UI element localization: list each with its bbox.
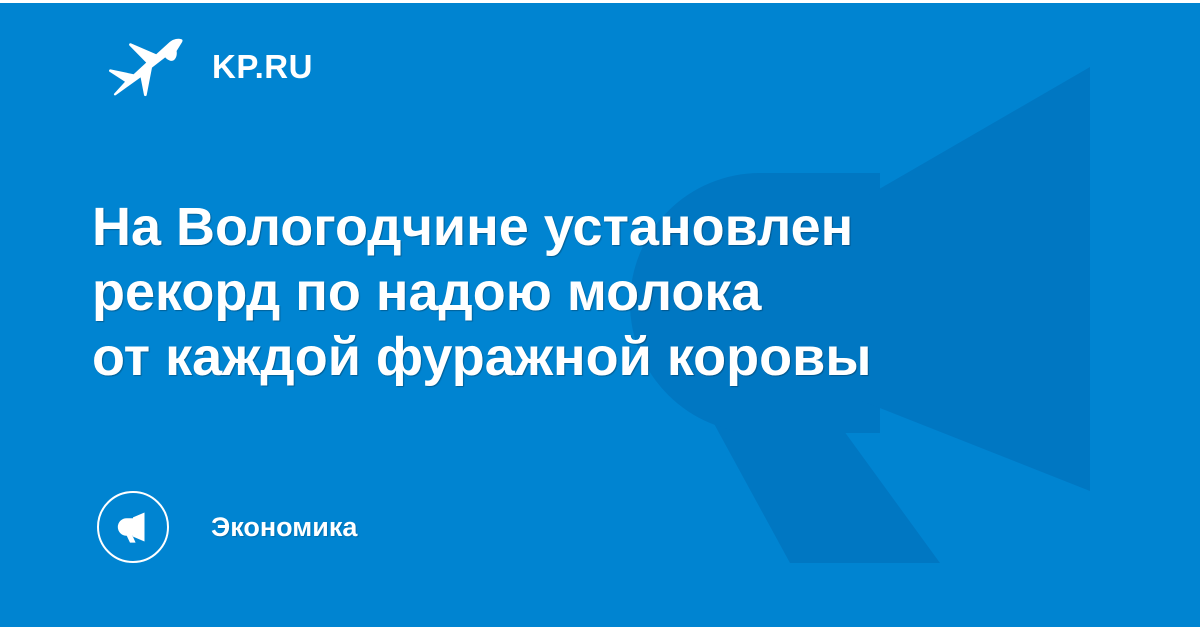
card-background: KP.RU На Вологодчине установлен рекорд п… — [0, 3, 1200, 627]
brand-name: KP.RU — [212, 50, 313, 83]
headline-line-2: рекорд по надою молока — [92, 260, 992, 325]
rubric-badge[interactable]: Экономика — [97, 491, 357, 563]
megaphone-icon — [113, 507, 153, 547]
rubric-icon-circle — [97, 491, 169, 563]
headline-line-3: от каждой фуражной коровы — [92, 325, 992, 390]
headline: На Вологодчине установлен рекорд по надо… — [92, 195, 992, 390]
headline-line-1: На Вологодчине установлен — [92, 195, 992, 260]
share-card-canvas: KP.RU На Вологодчине установлен рекорд п… — [0, 0, 1200, 630]
swallow-bird-icon — [107, 35, 183, 97]
rubric-label: Экономика — [211, 514, 357, 541]
brand-header: KP.RU — [107, 37, 313, 95]
